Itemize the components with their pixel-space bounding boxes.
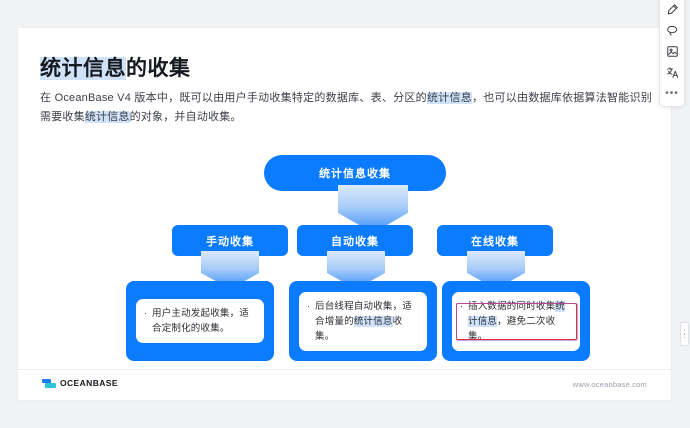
flow-card-auto-inner: · 后台线程自动收集，适合增量的统计信息收集。 — [299, 292, 427, 351]
flow-card-auto-text: 后台线程自动收集，适合增量的统计信息收集。 — [315, 299, 419, 344]
document-page: 统计信息的收集 在 OceanBase V4 版本中，既可以由用户手动收集特定的… — [18, 28, 671, 400]
flow-card-manual-inner: · 用户主动发起收集，适合定制化的收集。 — [136, 299, 264, 343]
screenshot-capture-icon[interactable] — [662, 42, 682, 61]
flow-node-online-label: 在线收集 — [471, 233, 519, 249]
brand-name-label: OCEANBASE — [60, 378, 118, 388]
flow-node-manual-label: 手动收集 — [206, 233, 254, 249]
flow-card-auto: · 后台线程自动收集，适合增量的统计信息收集。 — [289, 281, 437, 361]
bullet-icon: · — [460, 299, 463, 314]
flow-card-manual: · 用户主动发起收集，适合定制化的收集。 — [126, 281, 274, 361]
more-options-label: ••• — [665, 91, 679, 97]
flow-card-manual-text: 用户主动发起收集，适合定制化的收集。 — [152, 306, 256, 336]
statistics-collection-flowchart: 统计信息收集 手动收集 自动收集 在线收集 · 用户主动发起收集，适合定制化的收… — [18, 123, 671, 373]
highlighter-pen-icon[interactable] — [662, 0, 682, 19]
panel-drag-handle[interactable] — [680, 322, 689, 346]
flow-card-online: · 插入数据的同时收集统计信息，避免二次收集。 — [442, 281, 590, 361]
oceanbase-mark-icon — [42, 379, 56, 388]
floating-annotation-toolbar[interactable]: ••• — [659, 0, 685, 107]
page-footer: OCEANBASE www.oceanbase.com — [18, 369, 671, 400]
lasso-select-icon[interactable] — [662, 21, 682, 40]
bullet-icon: · — [144, 306, 147, 321]
site-url-label: www.oceanbase.com — [573, 380, 647, 389]
bullet-icon: · — [307, 299, 310, 314]
more-options-icon[interactable]: ••• — [662, 84, 682, 103]
page-title: 统计信息的收集 — [40, 54, 191, 84]
intro-paragraph: 在 OceanBase V4 版本中，既可以由用户手动收集特定的数据库、表、分区… — [40, 89, 652, 127]
flow-card-online-inner: · 插入数据的同时收集统计信息，避免二次收集。 — [452, 292, 580, 351]
translate-icon[interactable] — [662, 63, 682, 82]
flow-card-online-text: 插入数据的同时收集统计信息，避免二次收集。 — [468, 299, 572, 344]
oceanbase-logo: OCEANBASE — [42, 378, 118, 388]
flow-node-auto-label: 自动收集 — [331, 233, 379, 249]
flow-node-root-label: 统计信息收集 — [319, 165, 391, 181]
app-viewport: 统计信息的收集 在 OceanBase V4 版本中，既可以由用户手动收集特定的… — [0, 0, 690, 428]
